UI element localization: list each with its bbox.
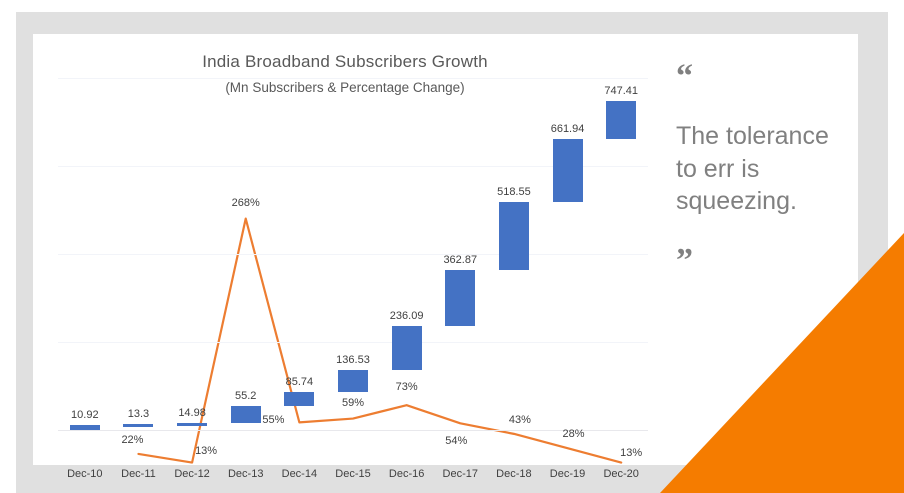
x-axis-tick-Dec-14: Dec-14: [282, 468, 317, 480]
gridline: [58, 430, 648, 431]
x-axis-tick-Dec-12: Dec-12: [174, 468, 209, 480]
x-axis-tick-Dec-15: Dec-15: [335, 468, 370, 480]
pct-change-label: 13%: [195, 445, 217, 457]
bar-Dec-17: [445, 270, 475, 326]
bar-Dec-11: [123, 424, 153, 427]
gridline: [58, 342, 648, 343]
bar-value-label: 14.98: [178, 407, 206, 419]
bar-Dec-20: [606, 101, 636, 139]
bar-value-label: 13.3: [128, 408, 149, 420]
quote-open-mark: “: [676, 60, 836, 94]
chart-container: India Broadband Subscribers Growth (Mn S…: [36, 36, 654, 464]
bar-Dec-13: [231, 406, 261, 424]
pct-change-label: 73%: [396, 381, 418, 393]
bar-value-label: 747.41: [604, 85, 638, 97]
orange-corner-triangle: [660, 233, 904, 493]
bar-Dec-18: [499, 202, 529, 270]
chart-title: India Broadband Subscribers Growth: [36, 52, 654, 72]
pct-change-label: 55%: [262, 414, 284, 426]
x-axis-tick-Dec-18: Dec-18: [496, 468, 531, 480]
bar-value-label: 136.53: [336, 354, 370, 366]
bar-value-label: 362.87: [443, 254, 477, 266]
x-axis-tick-Dec-10: Dec-10: [67, 468, 102, 480]
chart-plot-area: 10.9213.314.9855.285.74136.53236.09362.8…: [58, 70, 648, 460]
pct-change-label: 28%: [563, 428, 585, 440]
bar-Dec-15: [338, 370, 368, 392]
quote-text: The tolerance to err is squeezing.: [676, 120, 836, 218]
frame-border-top: [16, 12, 888, 34]
bar-value-label: 85.74: [286, 376, 314, 388]
bar-Dec-19: [553, 139, 583, 202]
gridline: [58, 254, 648, 255]
bar-Dec-12: [177, 423, 207, 426]
x-axis-tick-Dec-16: Dec-16: [389, 468, 424, 480]
gridline: [58, 78, 648, 79]
x-axis-tick-Dec-19: Dec-19: [550, 468, 585, 480]
slide-canvas: India Broadband Subscribers Growth (Mn S…: [0, 0, 904, 493]
pct-change-label: 54%: [445, 435, 467, 447]
pct-change-label: 22%: [121, 434, 143, 446]
bar-value-label: 55.2: [235, 390, 256, 402]
pct-change-label: 13%: [620, 447, 642, 459]
pct-change-label: 268%: [232, 197, 260, 209]
bar-value-label: 518.55: [497, 186, 531, 198]
x-axis-tick-Dec-20: Dec-20: [603, 468, 638, 480]
bar-value-label: 661.94: [551, 123, 585, 135]
pct-change-label: 59%: [342, 397, 364, 409]
bar-value-label: 10.92: [71, 409, 99, 421]
pct-change-label: 43%: [509, 414, 531, 426]
x-axis-tick-Dec-17: Dec-17: [443, 468, 478, 480]
frame-border-left: [16, 12, 33, 465]
bar-Dec-16: [392, 326, 422, 370]
x-axis-tick-Dec-13: Dec-13: [228, 468, 263, 480]
bar-value-label: 236.09: [390, 310, 424, 322]
x-axis-tick-Dec-11: Dec-11: [121, 468, 156, 480]
bar-Dec-10: [70, 425, 100, 430]
bar-Dec-14: [284, 392, 314, 405]
x-axis-labels: Dec-10Dec-11Dec-12Dec-13Dec-14Dec-15Dec-…: [58, 468, 648, 488]
